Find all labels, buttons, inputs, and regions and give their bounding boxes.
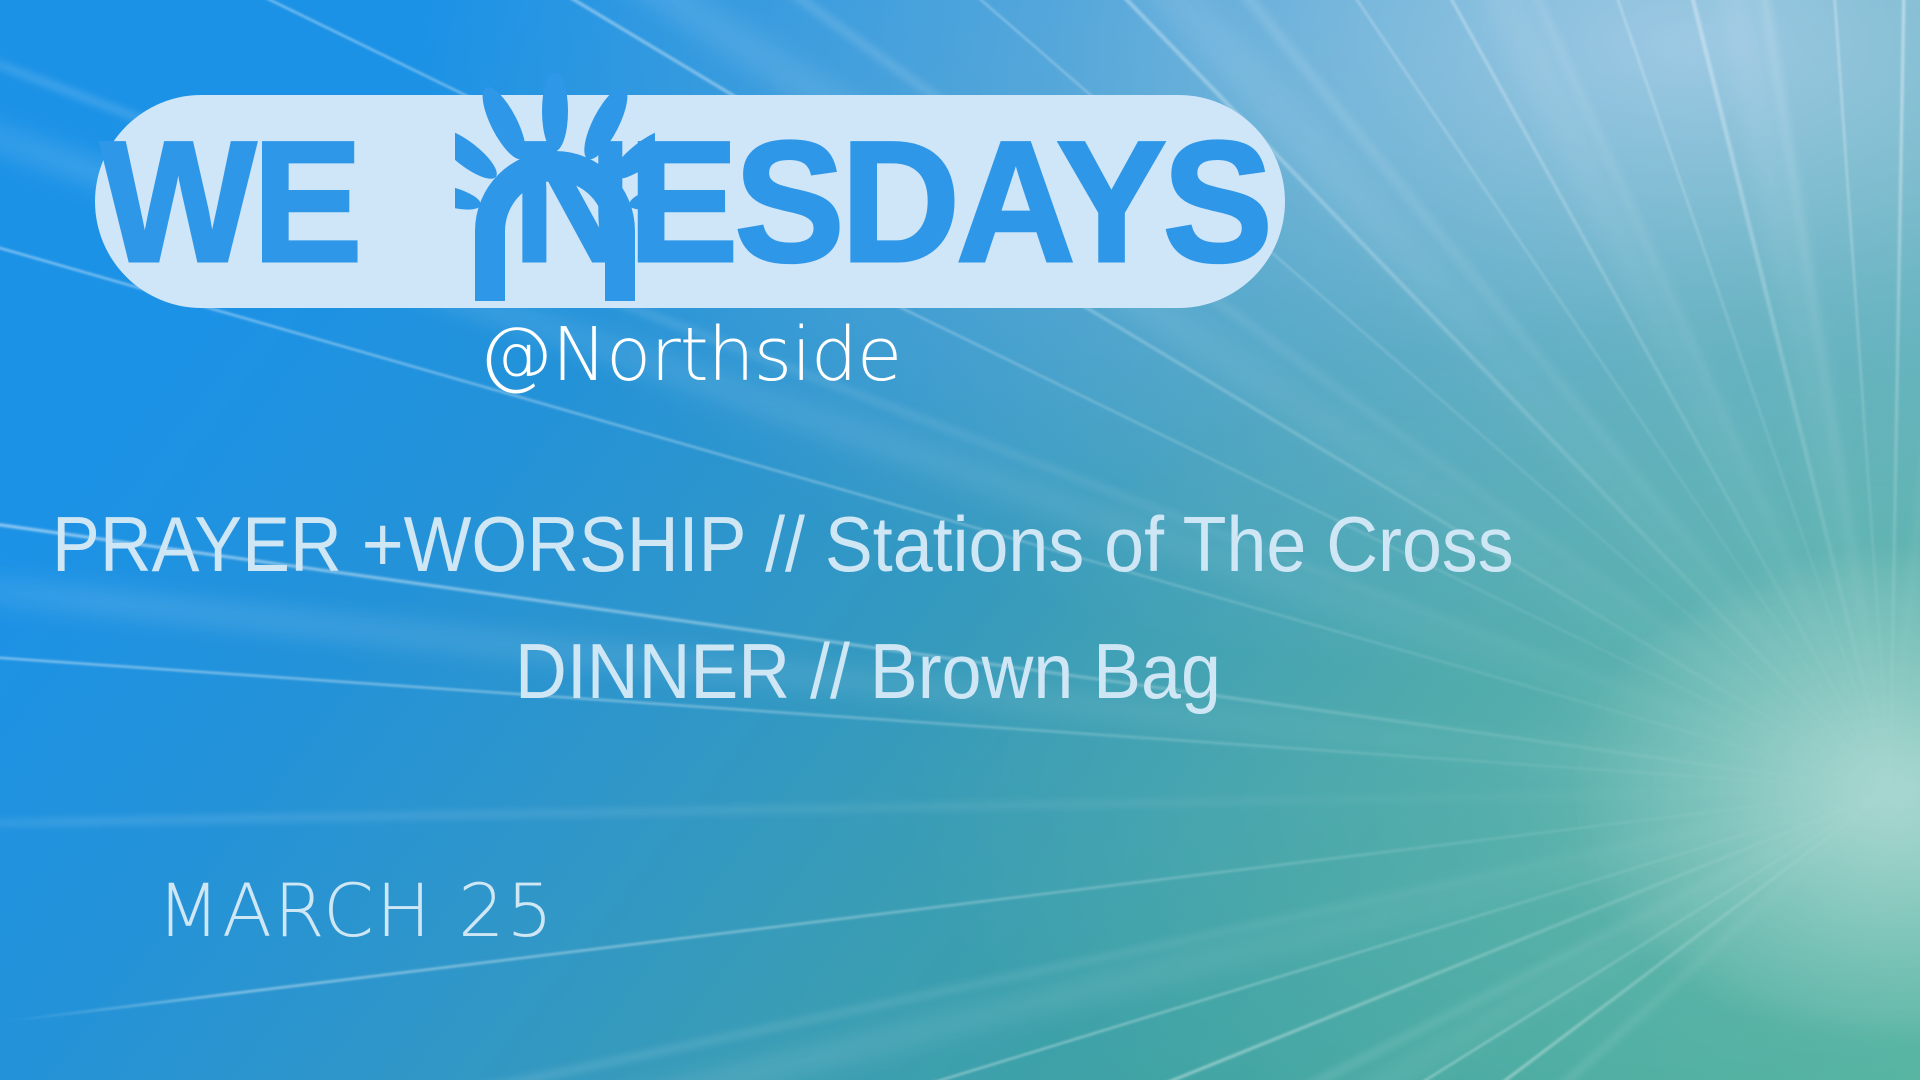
program-line-prayer-worship: PRAYER +WORSHIP // Stations of The Cross (52, 505, 1514, 583)
light-ray (1041, 789, 1890, 1080)
sunrise-arch-icon (455, 73, 655, 303)
wednesdays-wordmark: WE NESDAYS (95, 95, 1285, 308)
wednesdays-logo-pill: WE NESDAYS (95, 95, 1285, 308)
light-ray (455, 789, 1890, 1080)
light-ray (1589, 0, 1905, 793)
light-ray (1279, 788, 1892, 1080)
light-ray (1798, 0, 1891, 790)
light-ray (0, 788, 1890, 829)
wordmark-part-1: WE (100, 116, 358, 288)
light-glow-decoration (1570, 560, 1920, 1030)
event-date: MARCH 25 (157, 875, 555, 948)
light-ray (1501, 0, 1892, 790)
light-ray (889, 781, 1895, 1080)
light-ray (1170, 789, 1891, 1080)
light-ray (864, 787, 1891, 1080)
event-slide: WE NESDAYS @Northside PRAYER +WORSHIP //… (0, 0, 1920, 1080)
light-ray (684, 789, 1890, 1080)
light-ray (1888, 0, 1920, 790)
northside-subtitle: @Northside (0, 318, 1380, 392)
light-ray (1319, 0, 1891, 790)
light-ray (1889, 0, 1912, 790)
light-ray (1659, 0, 1894, 791)
program-line-dinner: DINNER // Brown Bag (515, 632, 1221, 710)
